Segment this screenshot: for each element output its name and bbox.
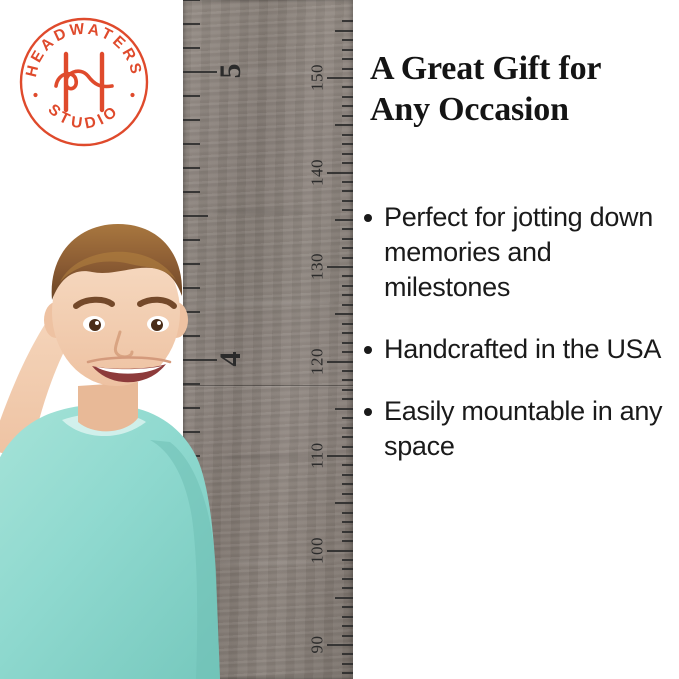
cm-tick	[342, 606, 353, 608]
cm-tick	[327, 77, 353, 79]
cm-tick	[342, 578, 353, 580]
cm-tick	[342, 332, 353, 334]
inch-tick	[183, 119, 200, 121]
cm-label: 110	[309, 436, 326, 476]
list-item: Easily mountable in any space	[364, 394, 669, 464]
cm-tick	[335, 502, 353, 504]
inch-tick	[183, 71, 217, 73]
cm-tick	[327, 455, 353, 457]
cm-tick	[342, 105, 353, 107]
cm-tick	[342, 143, 353, 145]
cm-tick	[342, 275, 353, 277]
cm-label: 140	[309, 152, 326, 192]
cm-tick	[342, 474, 353, 476]
cm-tick	[342, 153, 353, 155]
cm-tick	[342, 190, 353, 192]
foot-label: 5	[216, 53, 246, 89]
cm-label: 120	[309, 341, 326, 381]
cm-tick	[342, 86, 353, 88]
cm-tick	[342, 370, 353, 372]
cm-tick	[342, 96, 353, 98]
cm-tick	[342, 436, 353, 438]
cm-label: 130	[309, 247, 326, 287]
cm-tick	[342, 446, 353, 448]
cm-tick	[342, 483, 353, 485]
cm-tick	[342, 427, 353, 429]
cm-tick	[327, 550, 353, 552]
cm-tick	[342, 653, 353, 655]
cm-tick	[335, 30, 353, 32]
cm-tick	[342, 294, 353, 296]
bullet-dot-icon	[364, 214, 372, 222]
cm-tick	[342, 464, 353, 466]
cm-tick	[342, 512, 353, 514]
cm-tick	[342, 285, 353, 287]
cm-tick	[342, 200, 353, 202]
cm-tick	[327, 644, 353, 646]
cm-label: 100	[309, 530, 326, 570]
bullet-text: Easily mountable in any space	[384, 394, 669, 464]
cm-tick	[342, 115, 353, 117]
cm-tick	[335, 124, 353, 126]
cm-tick	[342, 228, 353, 230]
cm-tick	[342, 568, 353, 570]
cm-tick	[342, 134, 353, 136]
cm-tick	[327, 266, 353, 268]
cm-label: 90	[309, 625, 326, 665]
list-item: Perfect for jotting down memories and mi…	[364, 200, 669, 305]
cm-tick	[342, 379, 353, 381]
cm-tick	[342, 521, 353, 523]
cm-tick	[335, 219, 353, 221]
feature-bullet-list: Perfect for jotting down memories and mi…	[364, 200, 669, 491]
cm-tick	[342, 531, 353, 533]
cm-tick	[342, 398, 353, 400]
cm-tick	[342, 672, 353, 674]
headline-line-2: Any Occasion	[370, 91, 569, 128]
svg-text:HEADWATERS: HEADWATERS	[23, 20, 145, 78]
inch-tick	[183, 143, 200, 145]
cm-tick	[342, 20, 353, 22]
cm-tick	[342, 304, 353, 306]
bullet-dot-icon	[364, 408, 372, 416]
cm-tick	[342, 540, 353, 542]
cm-tick	[342, 587, 353, 589]
cm-tick	[335, 313, 353, 315]
child-photo	[0, 150, 240, 679]
cm-label: 150	[309, 58, 326, 98]
headwaters-studio-logo: HEADWATERS STUDIO	[18, 16, 150, 148]
inch-tick	[183, 47, 200, 49]
product-marketing-image: HEADWATERS STUDIO	[0, 0, 679, 679]
cm-tick	[342, 351, 353, 353]
cm-tick	[342, 162, 353, 164]
cm-tick	[335, 408, 353, 410]
cm-tick	[342, 559, 353, 561]
cm-tick	[342, 625, 353, 627]
cm-tick	[342, 417, 353, 419]
bullet-text: Perfect for jotting down memories and mi…	[384, 200, 669, 305]
cm-tick	[342, 323, 353, 325]
page-title: A Great Gift for Any Occasion	[370, 48, 670, 130]
cm-tick	[342, 257, 353, 259]
inch-tick	[183, 0, 200, 1]
marketing-copy-panel: A Great Gift for Any Occasion Perfect fo…	[353, 0, 679, 679]
cm-tick	[342, 616, 353, 618]
cm-tick	[342, 238, 353, 240]
cm-tick	[342, 39, 353, 41]
product-photo-panel: HEADWATERS STUDIO	[0, 0, 353, 679]
cm-tick	[342, 68, 353, 70]
headline-line-1: A Great Gift for	[370, 50, 601, 87]
inch-tick	[183, 95, 200, 97]
cm-tick	[335, 597, 353, 599]
cm-tick	[342, 181, 353, 183]
svg-text:STUDIO: STUDIO	[44, 101, 123, 133]
cm-tick	[342, 49, 353, 51]
cm-tick	[327, 361, 353, 363]
cm-tick	[342, 342, 353, 344]
cm-tick	[342, 635, 353, 637]
bullet-text: Handcrafted in the USA	[384, 332, 661, 367]
list-item: Handcrafted in the USA	[364, 332, 669, 367]
cm-tick	[342, 209, 353, 211]
inch-tick	[183, 23, 200, 25]
cm-tick	[342, 493, 353, 495]
cm-tick	[342, 58, 353, 60]
bullet-dot-icon	[364, 346, 372, 354]
cm-tick	[327, 172, 353, 174]
cm-tick	[342, 663, 353, 665]
cm-tick	[342, 247, 353, 249]
cm-tick	[342, 389, 353, 391]
